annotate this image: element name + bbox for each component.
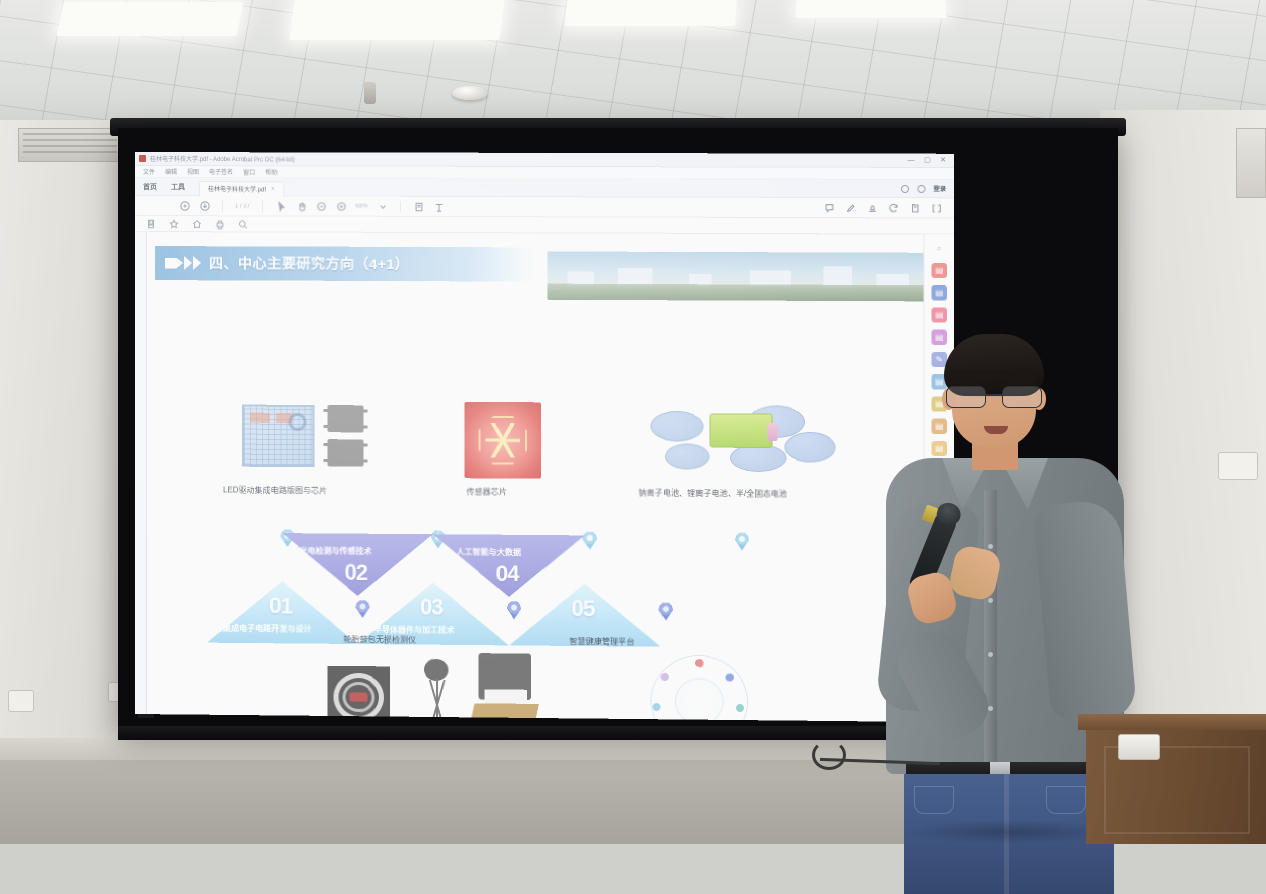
direction-label-02: 光电检测与传感技术 — [299, 545, 371, 557]
menu-item-edit[interactable]: 编辑 — [165, 167, 177, 176]
menu-item-window[interactable]: 窗口 — [243, 167, 255, 176]
zoom-out-icon[interactable] — [315, 201, 326, 212]
direction-number-03: 03 — [420, 594, 443, 620]
search-icon[interactable] — [237, 218, 248, 229]
menu-item-esign[interactable]: 电子签名 — [209, 167, 233, 176]
acrobat-icon — [139, 155, 146, 162]
ceiling-light-panel — [565, 0, 737, 26]
close-icon[interactable]: ✕ — [940, 157, 946, 164]
camera-tripod-image — [410, 659, 464, 722]
toolbar-right-group[interactable] — [823, 202, 948, 213]
chevron-arrow-icon — [165, 256, 201, 270]
direction-number-02: 02 — [345, 560, 368, 586]
building-shape — [823, 267, 852, 287]
menu-item-file[interactable]: 文件 — [143, 167, 155, 176]
share-icon[interactable] — [931, 202, 942, 213]
close-icon[interactable]: × — [271, 186, 275, 192]
eyeglasses — [946, 386, 1042, 408]
menu-item-help[interactable]: 帮助 — [265, 167, 277, 176]
toolbar-separator — [262, 200, 263, 211]
building-shape — [618, 268, 652, 286]
ic-package-image — [327, 439, 363, 466]
tab-home[interactable]: 首页 — [143, 182, 157, 192]
document-title: 桂林电子科技大学.pdf - Adobe Acrobat Pro DC (64-… — [150, 154, 903, 165]
light-switch[interactable] — [1218, 452, 1258, 480]
pdf-page[interactable]: 四、中心主要研究方向（4+1） — [147, 232, 923, 722]
coiled-cable — [812, 740, 846, 770]
edit-pdf-tool-icon[interactable]: ▤ — [932, 307, 947, 322]
export-pdf-tool-icon[interactable]: ▤ — [932, 263, 947, 278]
highlight-icon[interactable] — [845, 202, 856, 213]
toolbar-separator — [400, 201, 401, 212]
marker-pin-icon — [356, 600, 370, 618]
slide-title: 四、中心主要研究方向（4+1） — [209, 253, 409, 274]
shirt-button — [988, 652, 993, 657]
login-button[interactable]: 登录 — [934, 184, 946, 193]
lectern — [1086, 724, 1266, 844]
tab-tools[interactable]: 工具 — [171, 182, 185, 192]
health-platform-wheel-diagram — [651, 655, 748, 722]
window-controls[interactable]: — ▢ ✕ — [908, 157, 950, 164]
zoom-level[interactable]: 68% — [356, 203, 368, 209]
caption-led-chip: LED驱动集成电路版图与芯片 — [223, 485, 327, 497]
print-icon[interactable] — [199, 200, 210, 211]
campus-photo-banner — [547, 251, 923, 301]
direction-number-01: 01 — [269, 593, 292, 619]
ic-package-image — [327, 405, 363, 432]
zoom-in-icon[interactable] — [336, 201, 347, 212]
maximize-icon[interactable]: ▢ — [924, 157, 931, 164]
direction-label-01: 集成电子电路开发与设计 — [223, 623, 311, 635]
building-shape — [750, 270, 791, 286]
sprinkler-icon — [364, 82, 376, 104]
tire-bulge-photo — [327, 666, 389, 722]
slide-canvas: 四、中心主要研究方向（4+1） — [147, 232, 923, 722]
building-shape — [876, 274, 909, 287]
caption-tire-detector: 轮胎鼓包无损检测仪 — [344, 634, 416, 646]
detector-equipment-image — [473, 653, 538, 722]
jeans-pocket-left — [914, 786, 954, 814]
page-indicator: 1 / 27 — [235, 203, 250, 209]
save-icon[interactable] — [179, 200, 190, 211]
select-tool-icon[interactable] — [275, 200, 286, 211]
bookmark-icon[interactable] — [145, 218, 156, 229]
caption-health-platform: 智慧健康管理平台 — [570, 636, 635, 648]
user-icon[interactable] — [917, 185, 925, 193]
battery-products-image — [651, 401, 839, 483]
star-icon[interactable] — [168, 218, 179, 229]
lectern-top — [1078, 714, 1266, 730]
search-tool-icon[interactable]: ⌕ — [932, 241, 947, 256]
hand-tool-icon[interactable] — [295, 200, 306, 211]
menu-item-view[interactable]: 视图 — [187, 167, 199, 176]
fill-sign-icon[interactable] — [909, 202, 920, 213]
stamp-icon[interactable] — [866, 202, 877, 213]
pdf-document-body[interactable]: 四、中心主要研究方向（4+1） — [135, 232, 954, 722]
slide-title-band: 四、中心主要研究方向（4+1） — [155, 246, 547, 282]
navigation-pane-rail[interactable] — [135, 232, 147, 714]
caption-sensor-chip: 传感器芯片 — [466, 486, 506, 497]
marker-pin-icon — [735, 532, 749, 550]
caption-battery: 钠离子电池、锂离子电池、半/全固态电池 — [638, 487, 787, 499]
toolbar-center-group[interactable]: 1 / 27 68% — [179, 200, 444, 212]
home-icon[interactable] — [191, 218, 202, 229]
direction-number-04: 04 — [496, 561, 519, 587]
projected-desktop[interactable]: 桂林电子科技大学.pdf - Adobe Acrobat Pro DC (64-… — [135, 152, 954, 722]
shirt-button — [988, 598, 993, 603]
account-area[interactable]: 登录 — [901, 184, 946, 193]
building-shape — [568, 272, 594, 286]
minimize-icon[interactable]: — — [908, 157, 915, 164]
shirt-placket — [984, 490, 997, 770]
marker-pin-icon — [507, 601, 521, 619]
chevron-down-icon[interactable] — [377, 201, 388, 212]
direction-label-04: 人工智能与大数据 — [456, 546, 521, 558]
app-tabrow[interactable]: 首页 工具 桂林电子科技大学.pdf × 登录 — [135, 178, 954, 198]
building-shape — [689, 274, 711, 286]
toolbar-separator — [222, 200, 223, 211]
research-directions-diagram: 01 集成电子电路开发与设计 光电检测与传感技术 02 03 半导体器件与加工技… — [207, 533, 854, 649]
jeans-pocket-right — [1046, 786, 1086, 814]
shirt-button — [988, 544, 993, 549]
ceiling-light-panel — [56, 2, 243, 36]
marker-pin-icon — [659, 602, 673, 620]
question-circle-icon[interactable] — [901, 185, 909, 193]
document-tab-label: 桂林电子科技大学.pdf — [208, 184, 266, 193]
pdf-toolbar[interactable]: 1 / 27 68% — [135, 196, 954, 219]
sensor-chip-micrograph-image — [464, 402, 541, 479]
ceiling-light-panel — [796, 0, 946, 18]
create-pdf-tool-icon[interactable]: ▤ — [932, 285, 947, 300]
comment-icon[interactable] — [823, 202, 834, 213]
document-tab[interactable]: 桂林电子科技大学.pdf × — [199, 181, 284, 196]
print-icon[interactable] — [214, 218, 225, 229]
direction-number-05: 05 — [572, 596, 595, 622]
air-vent — [18, 128, 122, 162]
rotate-icon[interactable] — [888, 202, 899, 213]
conference-room: 桂林电子科技大学.pdf - Adobe Acrobat Pro DC (64-… — [0, 0, 1266, 844]
ceiling-light-panel — [289, 0, 505, 40]
lectern-device — [1118, 734, 1160, 760]
shirt-button — [988, 706, 993, 711]
menubar[interactable]: 文件 编辑 视图 电子签名 窗口 帮助 — [135, 166, 954, 180]
fit-page-icon[interactable] — [413, 201, 424, 212]
read-mode-icon[interactable] — [433, 201, 444, 212]
wall-speaker — [1236, 128, 1266, 198]
led-driver-chip-layout-image — [242, 405, 314, 468]
marker-pin-icon — [583, 531, 597, 549]
power-outlet — [8, 690, 34, 712]
smoke-detector-icon — [452, 86, 488, 100]
